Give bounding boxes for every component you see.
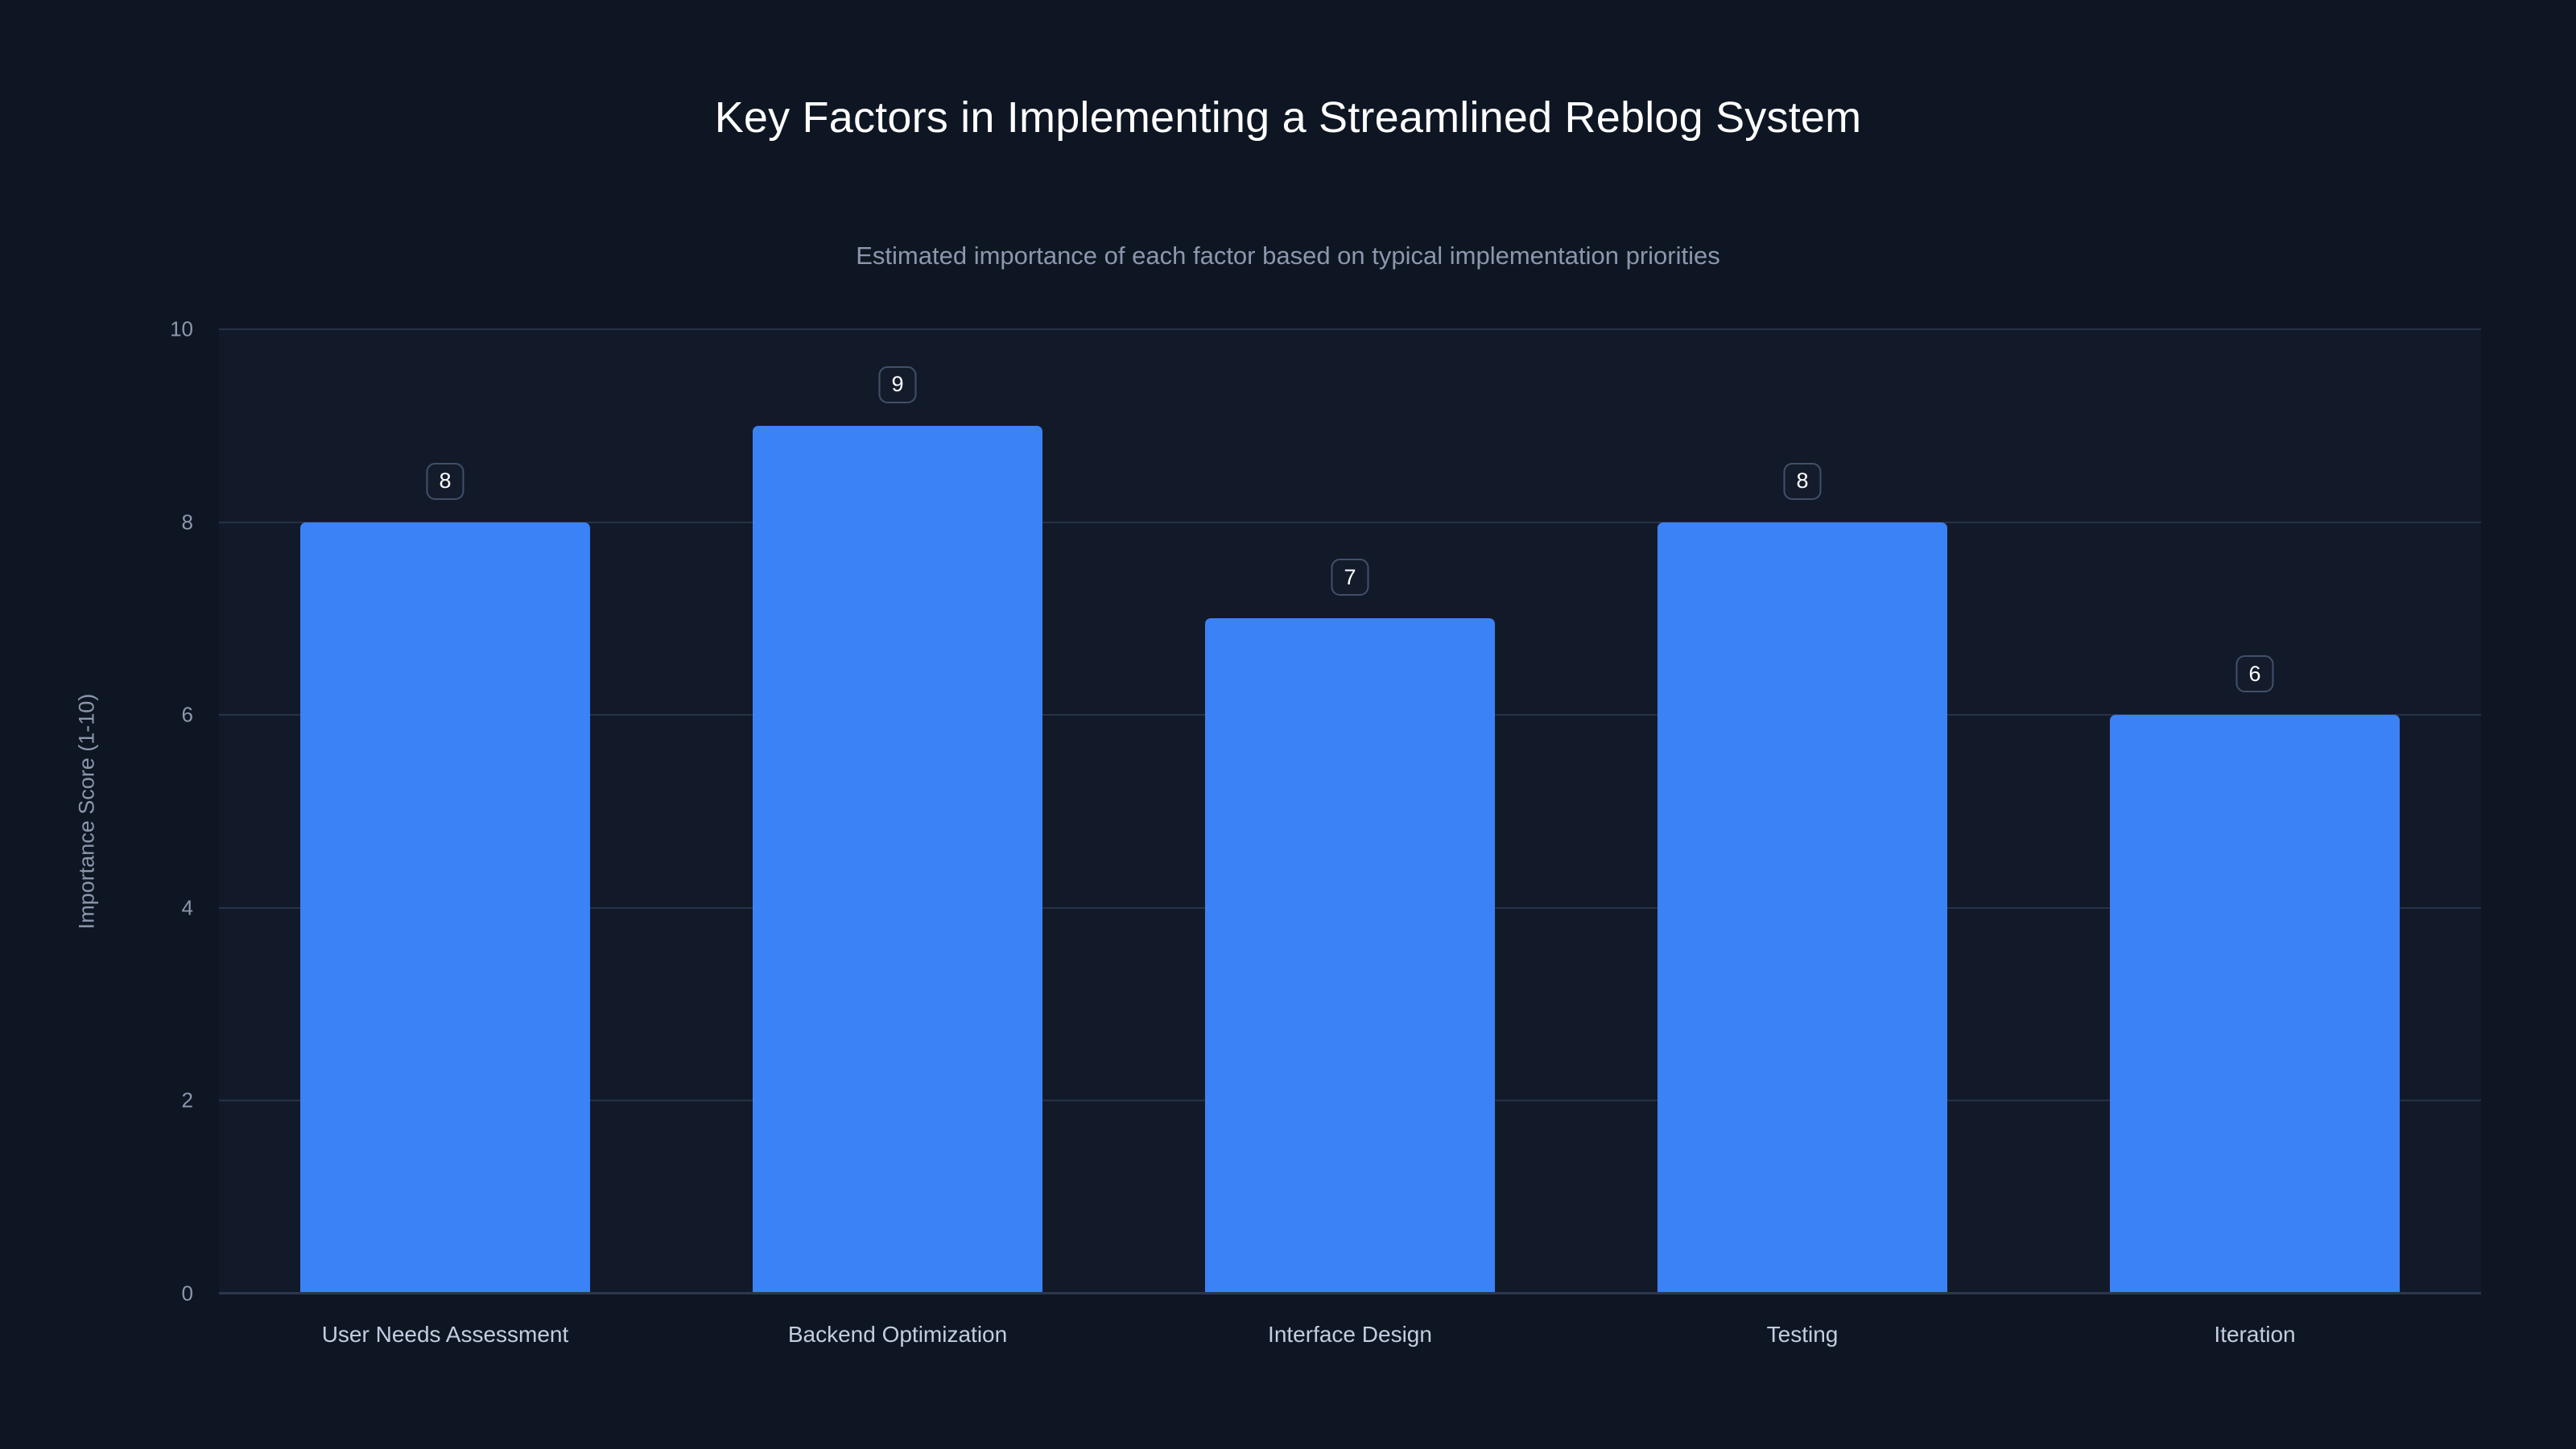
bar[interactable]	[2110, 715, 2400, 1294]
x-axis-tick-label: Interface Design	[1268, 1322, 1432, 1348]
y-axis-tick-label: 8	[129, 510, 193, 535]
chart-subtitle: Estimated importance of each factor base…	[0, 242, 2576, 270]
bar-column[interactable]	[1205, 329, 1495, 1294]
chart-title: Key Factors in Implementing a Streamline…	[0, 93, 2576, 142]
bar-value-label: 9	[878, 366, 916, 403]
y-axis-tick-label: 4	[129, 895, 193, 920]
bar-value-label: 6	[2235, 655, 2273, 692]
plot-area	[219, 329, 2481, 1294]
bar[interactable]	[1205, 618, 1495, 1294]
bar-value-label: 8	[426, 463, 464, 500]
bar[interactable]	[1657, 522, 1947, 1294]
chart-canvas: Key Factors in Implementing a Streamline…	[0, 0, 2576, 1449]
y-axis-tick-label: 0	[129, 1282, 193, 1307]
bar-column[interactable]	[2110, 329, 2400, 1294]
y-axis-title: Importance Score (1-10)	[75, 694, 100, 930]
x-axis-tick-label: Testing	[1767, 1322, 1839, 1348]
x-axis-tick-label: User Needs Assessment	[322, 1322, 569, 1348]
bar[interactable]	[753, 426, 1042, 1294]
y-axis-tick-label: 6	[129, 703, 193, 728]
x-axis-tick-label: Backend Optimization	[788, 1322, 1007, 1348]
bar-column[interactable]	[753, 329, 1042, 1294]
y-axis-tick-label: 2	[129, 1088, 193, 1113]
bar-value-label: 8	[1783, 463, 1821, 500]
y-axis-tick-label: 10	[129, 317, 193, 342]
bar-value-label: 7	[1331, 559, 1368, 596]
x-axis-baseline	[219, 1292, 2481, 1294]
x-axis-tick-label: Iteration	[2214, 1322, 2295, 1348]
bar[interactable]	[300, 522, 590, 1294]
